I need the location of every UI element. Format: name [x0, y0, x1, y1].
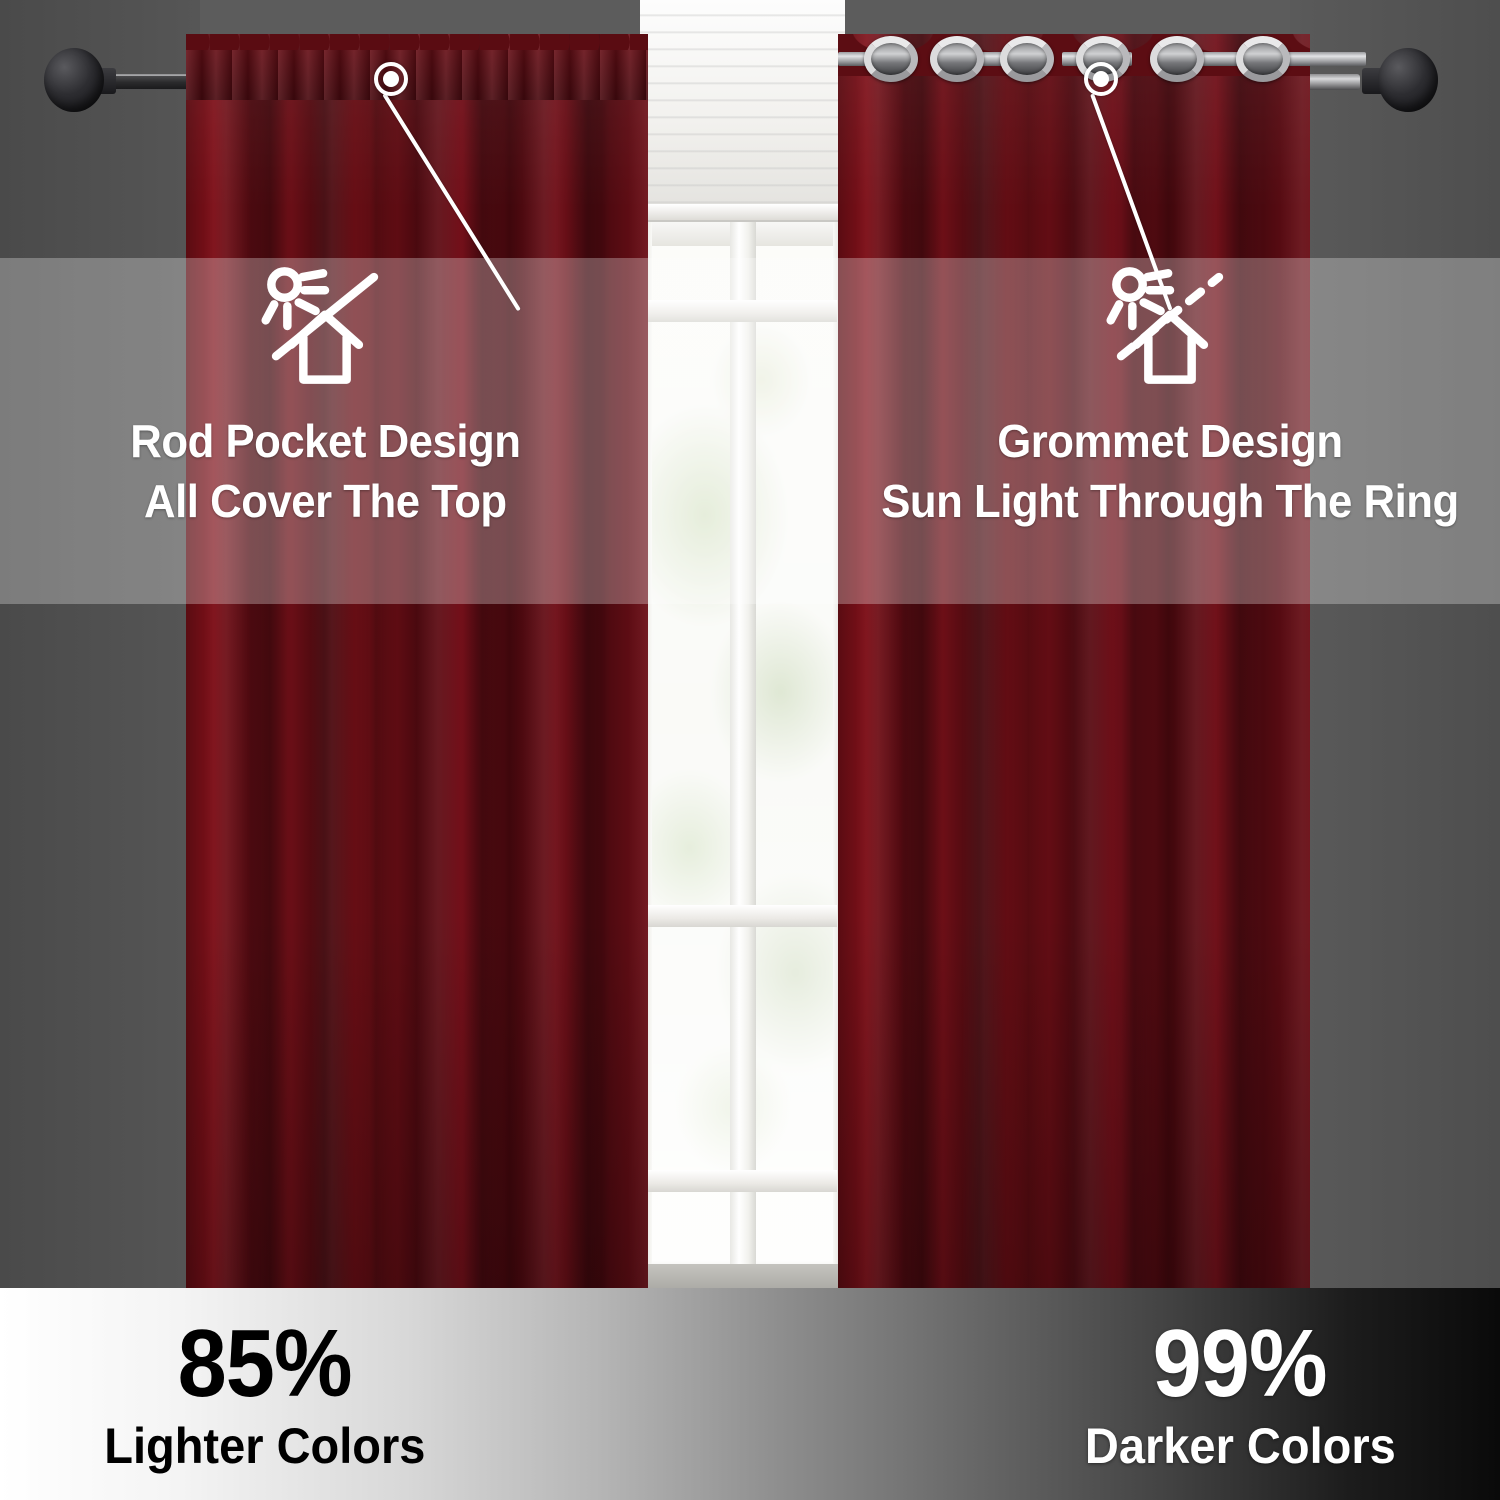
grommet-ring-6	[1236, 36, 1290, 82]
stat-caption: Lighter Colors	[104, 1420, 425, 1473]
shade-hem	[640, 204, 845, 220]
stat-darker-colors: 99% Darker Colors	[750, 1288, 1500, 1500]
feature-block-grommet: Grommet Design Sun Light Through The Rin…	[840, 258, 1500, 604]
window	[640, 0, 845, 1292]
roman-shade	[640, 0, 845, 222]
curtain-shading-right	[838, 34, 1310, 1292]
grommet-ring-2	[930, 36, 984, 82]
stats-banner: 85% Lighter Colors 99% Darker Colors	[0, 1288, 1500, 1500]
finial-ball	[44, 48, 104, 112]
feature-line-2: Sun Light Through The Ring	[881, 472, 1458, 532]
grommet-ring-5	[1150, 36, 1204, 82]
stat-lighter-colors: 85% Lighter Colors	[0, 1288, 750, 1500]
wall-shadow-left	[0, 0, 200, 1290]
curtain-shading-left	[186, 34, 648, 1292]
feature-text-grommet: Grommet Design Sun Light Through The Rin…	[881, 412, 1458, 532]
sun-blocked-house-icon	[259, 262, 391, 390]
grommet-ring-4	[1076, 36, 1130, 82]
curtain-panel-grommet	[838, 34, 1310, 1292]
feature-block-rod-pocket: Rod Pocket Design All Cover The Top	[60, 258, 590, 604]
feature-text-rod-pocket: Rod Pocket Design All Cover The Top	[130, 412, 520, 532]
rod-through-grommet-5	[1286, 52, 1366, 66]
finial-ball	[1378, 48, 1438, 112]
stat-percent: 99%	[1153, 1316, 1327, 1412]
grommet-ring-1	[864, 36, 918, 82]
stat-percent: 85%	[178, 1316, 352, 1412]
grommet-ring-3	[1000, 36, 1054, 82]
window-muntin-3	[648, 1170, 837, 1192]
wall-shadow-right	[1290, 0, 1500, 1290]
feature-line-2: All Cover The Top	[130, 472, 520, 532]
feature-line-1: Grommet Design	[997, 415, 1342, 467]
rod-pocket-gathers	[186, 34, 648, 50]
product-feature-image: Rod Pocket Design All Cover The Top	[0, 0, 1500, 1500]
feature-line-1: Rod Pocket Design	[130, 415, 520, 467]
ball-finial-icon-left	[44, 48, 108, 116]
stat-caption: Darker Colors	[1085, 1420, 1396, 1473]
window-muntin-2	[648, 905, 837, 927]
curtain-panel-rod-pocket	[186, 34, 648, 1292]
sun-through-house-icon	[1104, 262, 1236, 390]
